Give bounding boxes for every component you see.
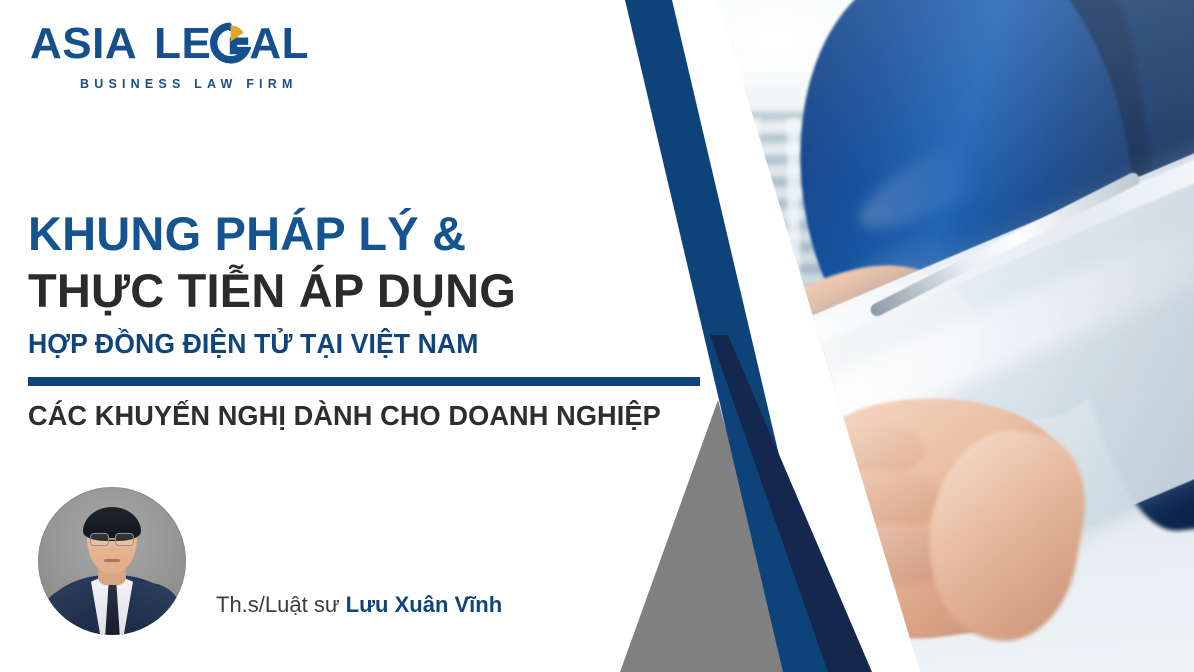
logo-wordmark: ASIA LE AL xyxy=(30,22,350,66)
author-byline: Th.s/Luật sư Lưu Xuân Vĩnh xyxy=(216,592,502,618)
logo-word-asia: ASIA xyxy=(30,22,137,66)
title-block: KHUNG PHÁP LÝ & THỰC TIỄN ÁP DỤNG HỢP ĐỒ… xyxy=(28,208,688,360)
logo-word-al: AL xyxy=(249,22,309,66)
subtitle-text: CÁC KHUYẾN NGHỊ DÀNH CHO DOANH NGHIỆP xyxy=(28,400,661,432)
slide-canvas: ASIA LE AL BUSINESS LAW FIRM KHUNG PHÁP … xyxy=(0,0,1194,672)
author-title: Th.s/Luật sư xyxy=(216,592,346,617)
avatar-ring xyxy=(38,487,186,635)
logo-word-le: LE xyxy=(154,22,211,66)
title-line-3: HỢP ĐỒNG ĐIỆN TỬ TẠI VIỆT NAM xyxy=(28,328,655,360)
logo-tagline: BUSINESS LAW FIRM xyxy=(80,77,350,91)
author-name: Lưu Xuân Vĩnh xyxy=(346,592,502,617)
title-divider-rule xyxy=(28,377,700,386)
author-avatar xyxy=(38,487,186,635)
logo-compass-g-icon xyxy=(209,22,251,66)
title-line-1: KHUNG PHÁP LÝ & xyxy=(28,208,688,261)
title-line-2: THỰC TIỄN ÁP DỤNG xyxy=(28,263,688,318)
artwork-panel xyxy=(600,0,1194,672)
brand-logo: ASIA LE AL BUSINESS LAW FIRM xyxy=(30,22,350,91)
